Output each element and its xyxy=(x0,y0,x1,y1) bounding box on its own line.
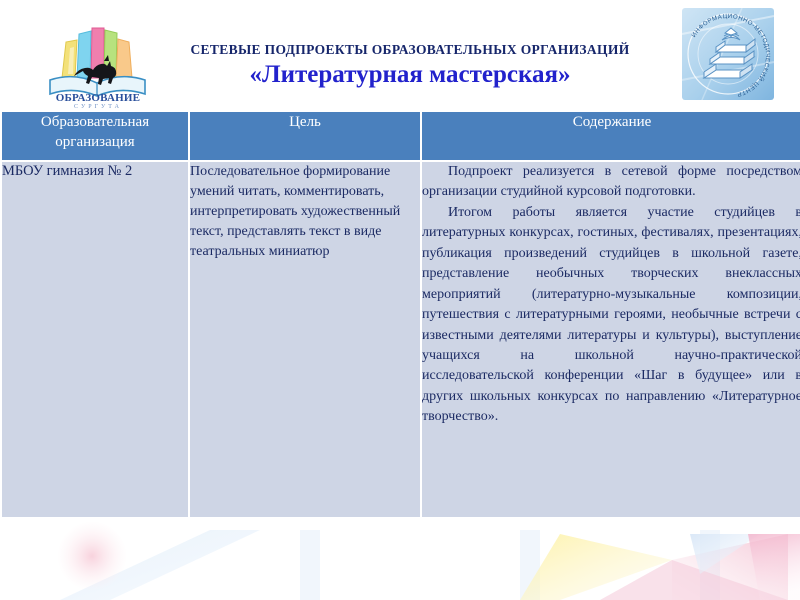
cell-organization: МБОУ гимназия № 2 xyxy=(2,162,188,517)
page-title: СЕТЕВЫЕ ПОДПРОЕКТЫ ОБРАЗОВАТЕЛЬНЫХ ОРГАН… xyxy=(150,42,670,89)
column-header-organization: Образовательная организация xyxy=(2,112,188,160)
informacionno-metodicheskiy-centr-logo: ИНФОРМАЦИОННО-МЕТОДИЧЕСКИЙ ЦЕНТР xyxy=(676,4,780,104)
table-head: Образовательная организация Цель Содержа… xyxy=(2,112,800,160)
column-header-goal: Цель xyxy=(190,112,420,160)
content-paragraph-2: Итогом работы является участие студийцев… xyxy=(422,203,800,428)
cell-goal: Последовательное формирование умений чит… xyxy=(190,162,420,517)
content-paragraph-1: Подпроект реализуется в сетевой форме по… xyxy=(422,162,800,203)
slide-header: ОБРАЗОВАНИЕ СУРГУТА СЕТЕВЫЕ ПОДПРОЕКТЫ О… xyxy=(0,0,800,110)
title-line-2: «Литературная мастерская» xyxy=(150,61,670,89)
title-line-1: СЕТЕВЫЕ ПОДПРОЕКТЫ ОБРАЗОВАТЕЛЬНЫХ ОРГАН… xyxy=(150,42,670,58)
logo-left-wordmark: ОБРАЗОВАНИЕ xyxy=(56,92,140,104)
obrazovanie-surguta-logo: ОБРАЗОВАНИЕ СУРГУТА xyxy=(44,14,152,108)
table-header-row: Образовательная организация Цель Содержа… xyxy=(2,112,800,160)
subprojects-table-wrapper: Образовательная организация Цель Содержа… xyxy=(0,110,800,519)
subprojects-table: Образовательная организация Цель Содержа… xyxy=(0,110,800,519)
table-row: МБОУ гимназия № 2 Последовательное форми… xyxy=(2,162,800,517)
logo-left-subtext: СУРГУТА xyxy=(74,104,122,108)
cell-content: Подпроект реализуется в сетевой форме по… xyxy=(422,162,800,517)
table-body: МБОУ гимназия № 2 Последовательное форми… xyxy=(2,162,800,517)
column-header-content: Содержание xyxy=(422,112,800,160)
